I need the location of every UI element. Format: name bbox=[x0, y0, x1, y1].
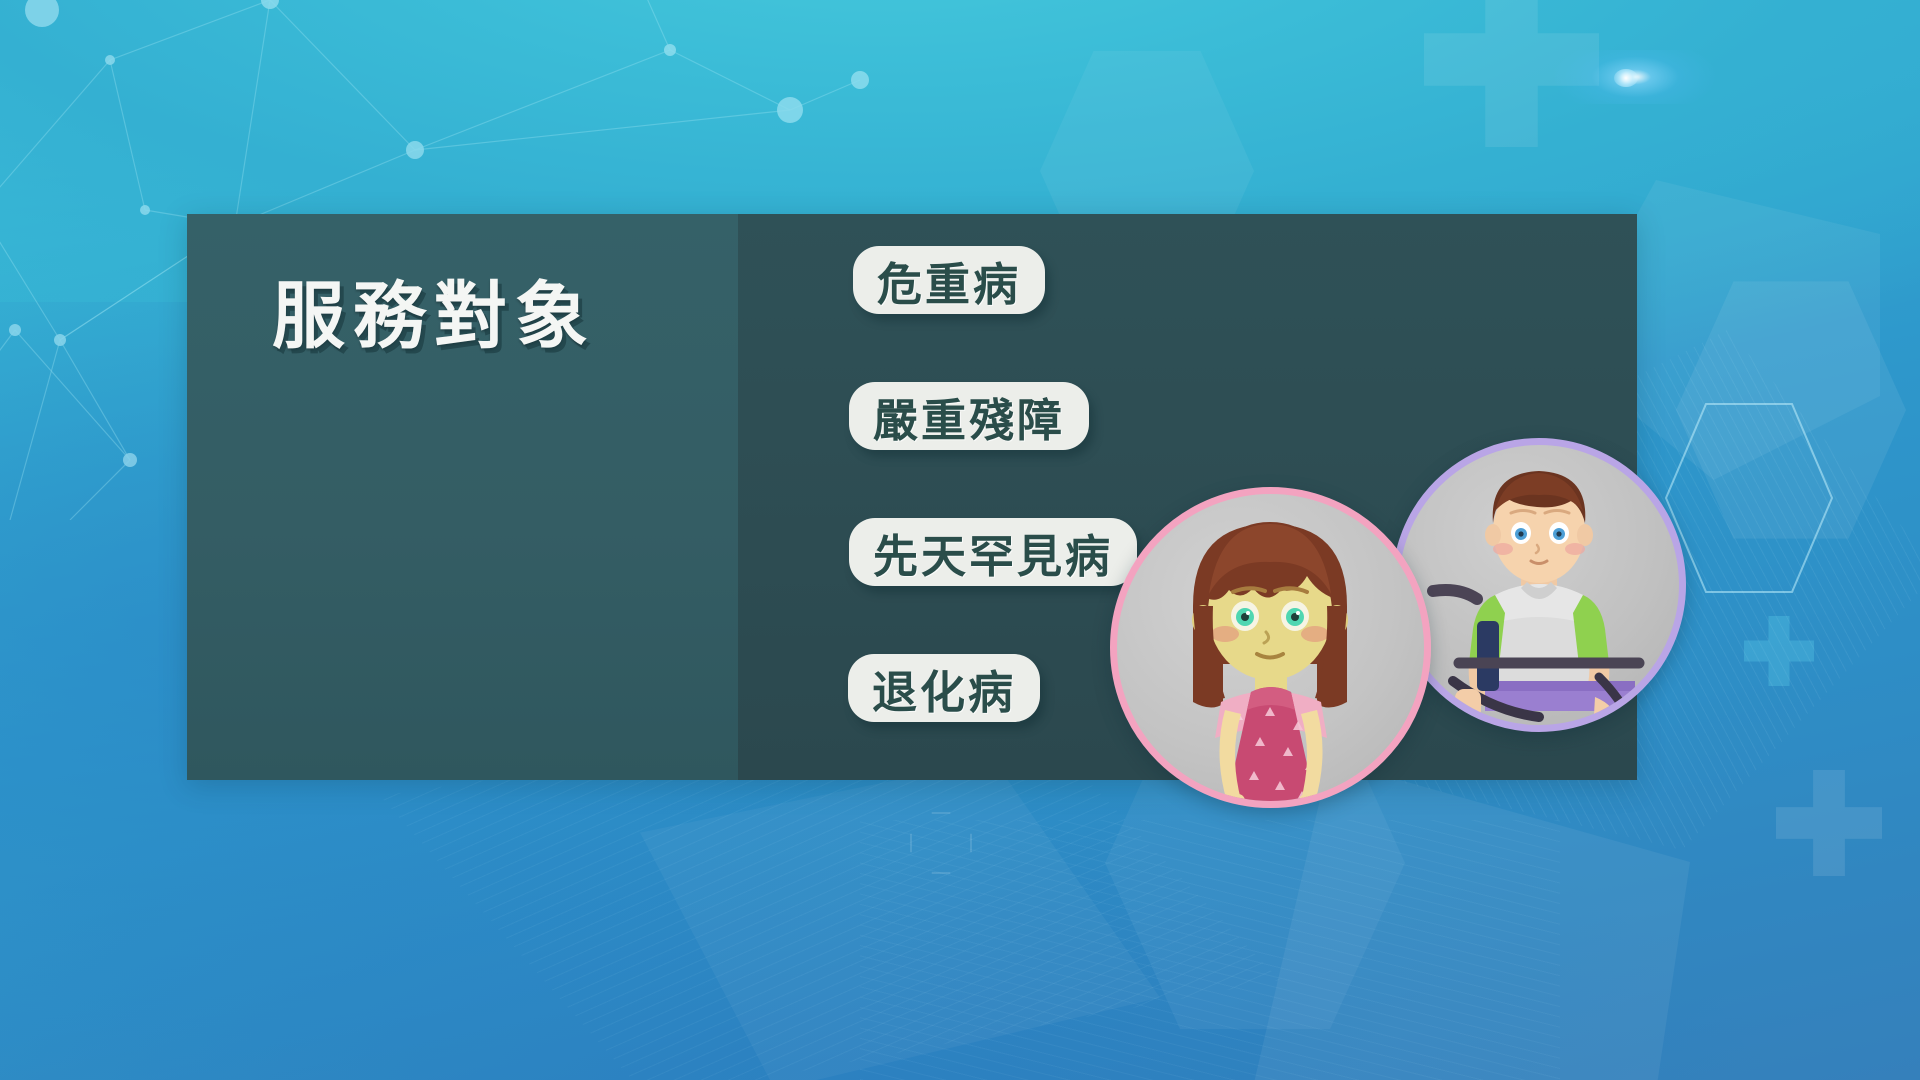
boy-wheelchair-avatar bbox=[1392, 438, 1686, 732]
category-pill-label: 退化病 bbox=[872, 656, 1016, 721]
lens-flare-core bbox=[1614, 69, 1638, 87]
page-title: 服務對象 bbox=[272, 280, 692, 353]
category-pill-degenerative-disease[interactable]: 退化病 bbox=[848, 654, 1040, 722]
category-pill-congenital-rare-disease[interactable]: 先天罕見病 bbox=[849, 518, 1137, 586]
category-pill-label: 危重病 bbox=[877, 248, 1021, 313]
category-pill-label: 先天罕見病 bbox=[873, 520, 1113, 585]
category-pill-label: 嚴重殘障 bbox=[873, 384, 1065, 449]
girl-illustration bbox=[1117, 494, 1424, 801]
boy-wheelchair-illustration bbox=[1399, 445, 1679, 725]
ray-texture-bottom-right bbox=[860, 820, 1560, 1080]
slide-stage: 服務對象 危重病 嚴重殘障 先天罕見病 退化病 bbox=[0, 0, 1920, 1080]
girl-avatar bbox=[1110, 487, 1431, 808]
category-pill-severe-disability[interactable]: 嚴重殘障 bbox=[849, 382, 1089, 450]
category-pill-critical-illness[interactable]: 危重病 bbox=[853, 246, 1045, 314]
